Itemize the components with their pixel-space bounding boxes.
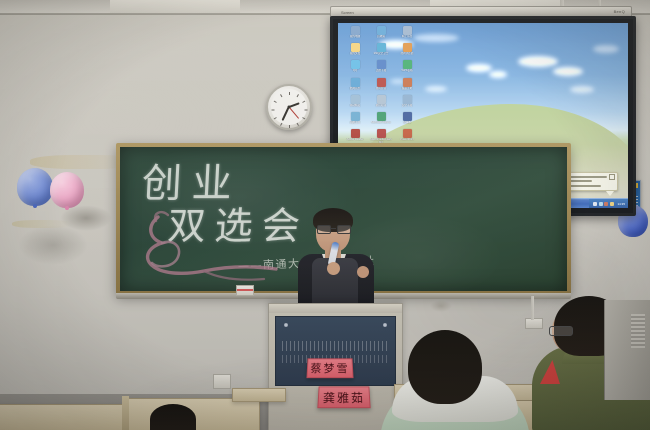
wall-scuff-4 (12, 220, 72, 228)
app-icon (377, 43, 386, 52)
app-icon (377, 112, 386, 121)
chalk-box[interactable] (236, 285, 254, 296)
desktop-icon-label: 我的电脑 (343, 35, 367, 41)
desktop-icon[interactable]: 暴风影音 (369, 78, 393, 93)
desktop-icon-label: 安全下载 (395, 104, 419, 110)
wall-conduit-vertical (531, 296, 534, 320)
app-icon (351, 26, 360, 35)
desktop-icon-label: QQ (343, 69, 367, 75)
desktop-icon[interactable]: 360安全卫士 (369, 43, 393, 58)
clock-tick (297, 94, 299, 97)
app-icon (403, 78, 412, 87)
clock-tick (302, 101, 305, 103)
panel-screw-right (383, 323, 387, 327)
clock-tick (274, 101, 277, 103)
desktop-icon-label: 我的文档 (343, 52, 367, 58)
app-icon (403, 112, 412, 121)
desktop-icon[interactable]: WPS表格 (395, 60, 419, 75)
app-icon (351, 112, 360, 121)
cloud (489, 71, 507, 78)
desktop-icon[interactable]: Microsoft Access (369, 112, 393, 127)
desk-divider (122, 396, 129, 430)
name-card-1: 蔡梦雪 (306, 358, 353, 378)
desktop-icon-label: 腾讯视频 (369, 104, 393, 110)
glasses-lens-left (317, 225, 331, 234)
clock-tick (280, 123, 282, 126)
panel-screw-left (284, 323, 288, 327)
cloud (466, 64, 492, 72)
desktop-icon-label: 酷狗音乐 (343, 87, 367, 93)
panel-vent-row-1 (282, 341, 387, 351)
desktop-icon[interactable]: 回收站 (369, 26, 393, 41)
cloud (593, 45, 619, 53)
tray-volume-icon[interactable] (599, 202, 603, 206)
desktop-icon[interactable]: 极品五笔 (395, 78, 419, 93)
clock-tick (289, 125, 290, 128)
wall-scuff-5 (430, 300, 452, 312)
cloud (518, 56, 558, 67)
glasses-lens-right (337, 225, 351, 234)
close-icon[interactable] (609, 174, 615, 180)
wall-switch-box[interactable] (213, 374, 231, 389)
clock-minute-hand (282, 107, 290, 121)
door-vent (631, 314, 645, 348)
wall-clock (266, 84, 312, 130)
desktop-icon[interactable]: 记事本 (395, 112, 419, 127)
name-card-1-text: 蔡梦雪 (310, 360, 350, 376)
cloud (425, 86, 447, 92)
cloud (413, 34, 459, 42)
name-card-2-text: 龚雅茹 (323, 389, 366, 406)
audience-woman-hair (408, 330, 482, 404)
pink-balloon-knot (65, 206, 69, 210)
chalk-flourish-decoration (128, 209, 288, 289)
tray-update-icon[interactable] (610, 202, 614, 206)
desktop-icon[interactable]: Macromedia Flash MX (369, 129, 393, 144)
app-icon (377, 95, 386, 104)
desktop-icon-label: 极品五笔 (395, 87, 419, 93)
cloud (570, 86, 594, 93)
desktop-icon[interactable]: 酷狗音乐 (343, 78, 367, 93)
screen-housing-label: Screen (341, 10, 354, 15)
app-icon (351, 43, 360, 52)
app-icon (377, 129, 386, 138)
chalk-box-stripe (237, 289, 253, 291)
desktop-icon-label: 网上邻居 (395, 35, 419, 41)
pink-balloon-left (50, 172, 84, 208)
clock-tick (302, 117, 305, 119)
classroom-photo: BenQ Screen 我的电脑 回收站 网上邻居 我的文档 (0, 0, 650, 430)
desk-front-left (0, 404, 124, 430)
clock-tick (289, 92, 290, 95)
desktop-icon-label: WPS表格 (395, 69, 419, 75)
desktop-icon-label: 搜狗浏览器 (395, 52, 419, 58)
projector-brand-label: BenQ (614, 9, 625, 14)
wall-scuff-2 (18, 225, 88, 265)
desktop-icon[interactable]: 网上邻居 (395, 26, 419, 41)
desktop-icon[interactable]: 迅雷下载 (369, 60, 393, 75)
lectern-top-surface (269, 304, 402, 313)
desktop-icon[interactable]: 驱动精灵 (343, 95, 367, 110)
desktop-icon[interactable]: Adobe Reader (343, 129, 367, 144)
desktop-icon[interactable]: 画图工具 (343, 112, 367, 127)
audience-head-foreground (150, 404, 196, 430)
clock-tick (280, 94, 282, 97)
app-icon (351, 78, 360, 87)
system-tray: 14:35 (589, 199, 628, 208)
app-icon (351, 60, 360, 69)
app-icon (377, 78, 386, 87)
audience-man-glasses (549, 326, 573, 336)
tray-network-icon[interactable] (593, 202, 597, 206)
audience-woman (390, 330, 520, 430)
notification-tail (606, 191, 614, 196)
speaker-hand-right (357, 266, 369, 278)
desktop-icon[interactable]: QQ (343, 60, 367, 75)
glasses-bridge (330, 228, 336, 229)
desktop-icon[interactable]: 我的文档 (343, 43, 367, 58)
classroom-door[interactable] (604, 300, 650, 400)
desktop-icon[interactable]: 腾讯视频 (369, 95, 393, 110)
desktop-icon-label: 驱动精灵 (343, 104, 367, 110)
app-icon (351, 129, 360, 138)
cloud (553, 67, 583, 76)
clock-tick (305, 110, 308, 111)
app-icon (377, 26, 386, 35)
tray-shield-icon[interactable] (604, 202, 608, 206)
name-card-2: 龚雅茹 (317, 386, 370, 408)
app-icon (403, 26, 412, 35)
app-icon (403, 60, 412, 69)
app-icon (351, 95, 360, 104)
desktop-icon-label: 回收站 (369, 35, 393, 41)
app-icon (377, 60, 386, 69)
desktop-icon-label: 迅雷下载 (369, 69, 393, 75)
clock-tick (272, 110, 275, 111)
blue-balloon-knot (33, 204, 37, 208)
speaker-glasses (317, 225, 349, 232)
desk-right-upper (232, 388, 286, 402)
desktop-icon-label: 画图工具 (343, 121, 367, 127)
app-icon (403, 129, 412, 138)
app-icon (403, 95, 412, 104)
clock-second-hand (289, 107, 299, 119)
taskbar-clock[interactable]: 14:35 (617, 202, 625, 206)
desktop-icon[interactable]: 我的电脑 (343, 26, 367, 41)
clock-tick (274, 117, 277, 119)
desktop-icon[interactable]: 搜狗浏览器 (395, 43, 419, 58)
desktop-icon-label: 记事本 (395, 121, 419, 127)
ceiling-panel-left (110, 0, 240, 13)
desktop-icon[interactable]: 安全下载 (395, 95, 419, 110)
clock-face (271, 89, 307, 125)
speaker-hand-left (327, 262, 340, 275)
clock-tick (297, 123, 299, 126)
app-icon (403, 43, 412, 52)
blue-balloon-left (17, 168, 53, 206)
speaker-person (296, 208, 376, 308)
desktop-icon[interactable]: PowerPoint (395, 129, 419, 144)
desktop-icon-label: Microsoft Access (369, 121, 393, 127)
desktop-icon-label: 360安全卫士 (369, 52, 393, 58)
desktop-icon-label: 暴风影音 (369, 87, 393, 93)
clock-center-pin (288, 106, 291, 109)
